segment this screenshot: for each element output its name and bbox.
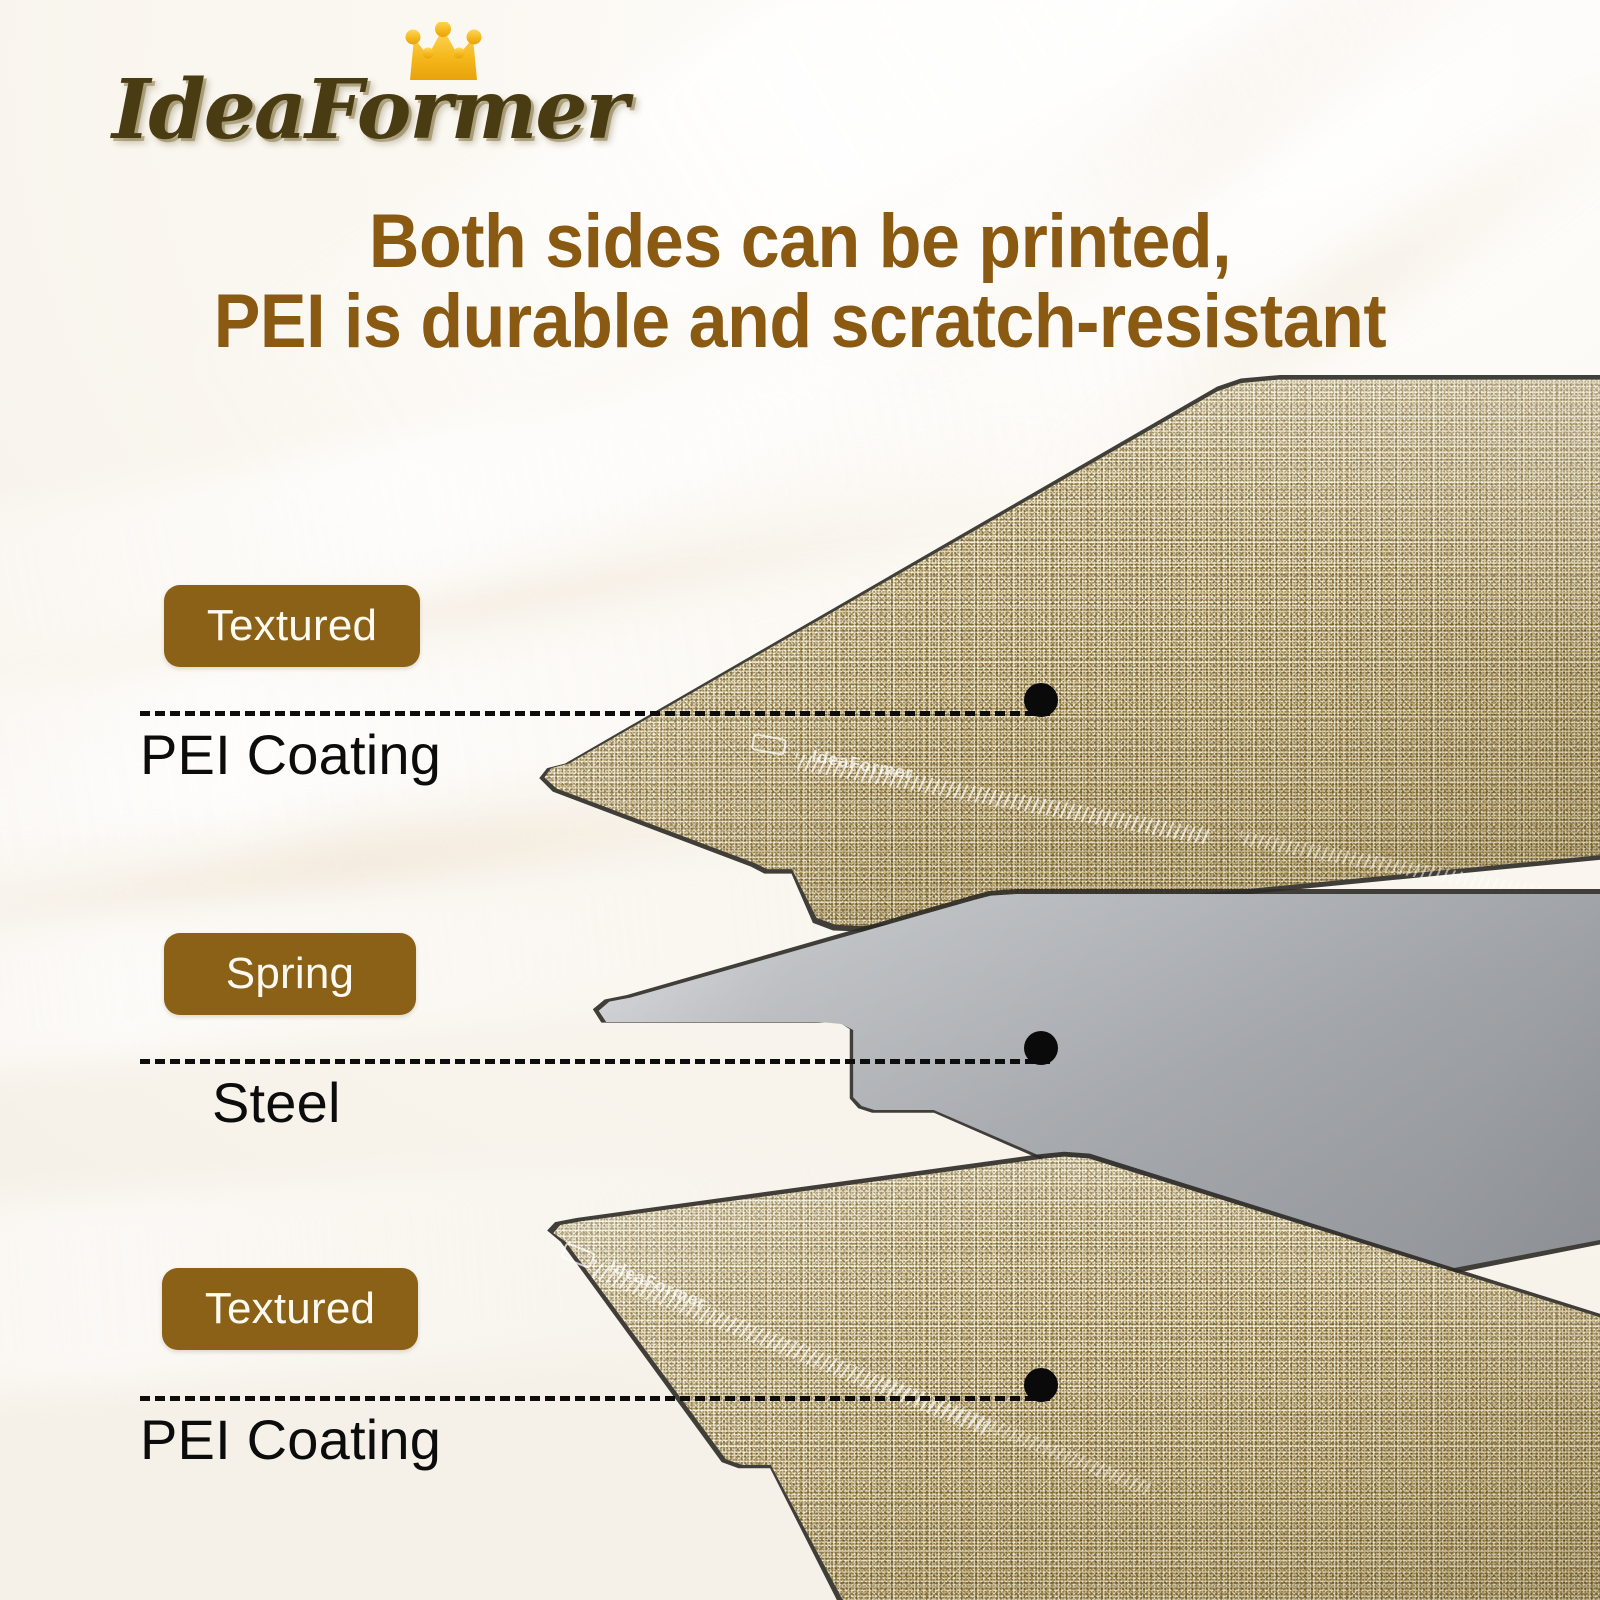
badge-textured-bottom[interactable]: Textured: [162, 1268, 418, 1350]
leader-dot-1: [1024, 683, 1058, 717]
leader-line-2: [140, 1059, 1050, 1064]
leader-dot-3: [1024, 1368, 1058, 1402]
badge-label: Textured: [205, 1284, 375, 1334]
label-pei-coating-top: PEI Coating: [140, 722, 441, 787]
label-pei-coating-bottom: PEI Coating: [140, 1407, 441, 1472]
label-steel: Steel: [212, 1070, 341, 1135]
badge-spring[interactable]: Spring: [164, 933, 416, 1015]
badge-label: Spring: [226, 949, 354, 999]
leader-line-3: [140, 1396, 1050, 1401]
leader-line-1: [140, 711, 1050, 716]
callout-annotations: Textured PEI Coating Spring Steel Textur…: [0, 0, 1600, 1600]
badge-label: Textured: [207, 601, 377, 651]
badge-textured-top[interactable]: Textured: [164, 585, 420, 667]
leader-dot-2: [1024, 1031, 1058, 1065]
